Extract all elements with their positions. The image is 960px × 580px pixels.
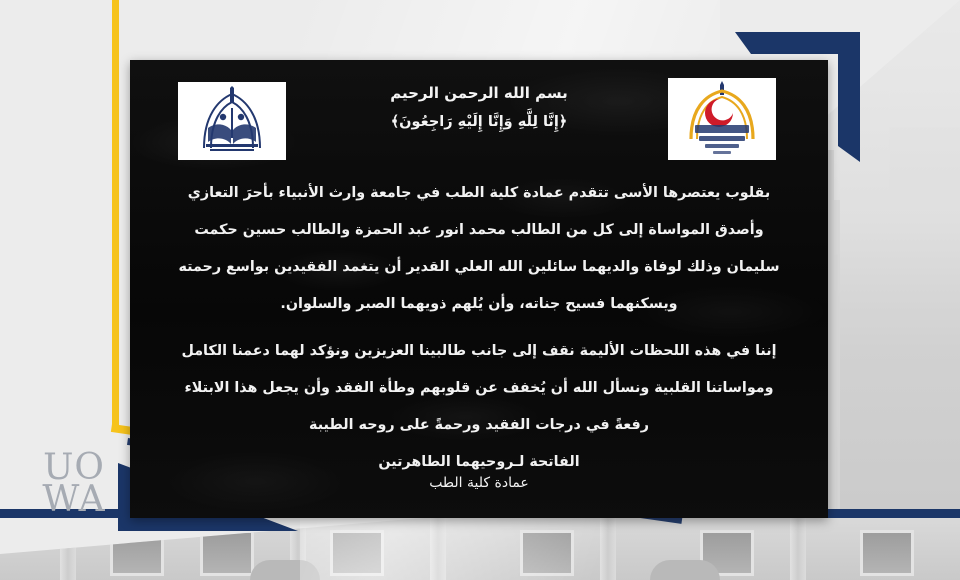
signature-text: عمادة كلية الطب <box>130 475 828 491</box>
facade-window <box>200 530 254 576</box>
quran-verse-text: ﴿إِنَّا لِلَّهِ وَإِنَّا إِلَيْهِ رَاجِع… <box>130 114 828 130</box>
paragraph1-line-2: وأصدق المواساة إلى كل من الطالب محمد انو… <box>150 215 808 246</box>
paragraph1-line-3: سليمان وذلك لوفاة والديهما سائلين الله ا… <box>150 252 808 283</box>
facade-pillar <box>790 518 806 580</box>
paragraph1-line-4: ويسكنهما فسيح جناته، وأن يُلهم ذويهما ال… <box>150 289 808 320</box>
fatiha-line: الفاتحة لـروحيهما الطاهرتين <box>150 447 808 478</box>
poster-canvas: UO WA <box>0 0 960 580</box>
paragraph2-line-1: إننا في هذه اللحظات الأليمة نقف إلى جانب… <box>150 336 808 367</box>
paragraph2-line-2: ومواساتنا القلبية ونسأل الله أن يُخفف عن… <box>150 373 808 404</box>
card-header: بسم الله الرحمن الرحيم ﴿إِنَّا لِلَّهِ و… <box>130 84 828 130</box>
basmala-text: بسم الله الرحمن الرحيم <box>130 84 828 102</box>
paragraph2-line-3: رفعةً في درجات الفقيد ورحمةً على روحه ال… <box>150 410 808 441</box>
card-body: بقلوب يعتصرها الأسى تتقدم عمادة كلية الط… <box>150 178 808 484</box>
facade-window <box>860 530 914 576</box>
uowa-line-2: WA <box>28 484 120 516</box>
paragraph1-line-1: بقلوب يعتصرها الأسى تتقدم عمادة كلية الط… <box>150 178 808 209</box>
condolence-card: بسم الله الرحمن الرحيم ﴿إِنَّا لِلَّهِ و… <box>130 60 828 518</box>
uowa-watermark-logo: UO WA <box>28 452 120 524</box>
